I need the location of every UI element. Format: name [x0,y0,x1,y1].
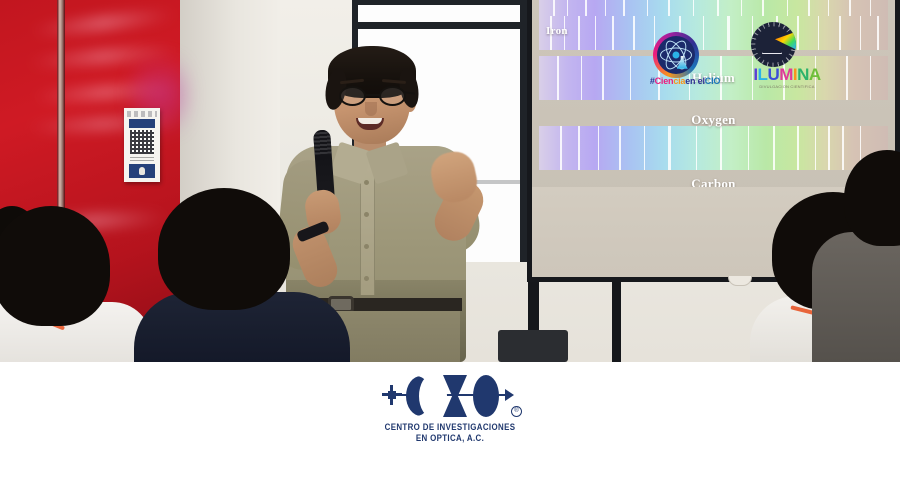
atom-icon [653,32,699,78]
ilumina-subtitle: DIVULGACION CIENTIFICA [735,84,839,89]
window-frame [352,22,527,29]
speaker-nose [365,102,377,116]
audience-member [836,150,900,362]
cio-logo-mark: ® [383,372,517,420]
poster-header-text [127,111,157,117]
event-photograph: Iron Helium [0,0,900,362]
cio-logo: ® [0,372,900,425]
page-root: Iron Helium [0,0,900,500]
poster-body-text [130,156,154,161]
audience-member [0,206,136,362]
cio-logo-line1: CENTRO DE INVESTIGACIONES [54,422,846,433]
ilumina-letter: M [779,65,793,84]
microphone-grille [313,130,332,155]
eyeglass-bridge [366,94,380,96]
screen-support-post [612,282,621,362]
audience-member [140,188,330,362]
qr-code-icon [130,130,154,154]
speaker-teeth [358,118,382,124]
shirt-button [364,276,369,281]
ciencia-part1: Cien [655,76,674,86]
ciencia-en-el-cio-wordmark: #Cienciaen elCIO [625,76,745,86]
shirt-button [364,244,369,249]
atom-nucleus-icon [673,52,680,59]
window-frame [352,0,527,5]
registered-trademark-icon: ® [511,406,522,417]
atom-icon-inner [657,36,695,74]
arrow-icon [505,389,514,401]
shirt-button [364,180,369,185]
audience-jacket [812,232,900,362]
footer: ® CENTRO DE INVESTIGACIONES EN OPTICA, A… [0,362,900,500]
ilumina-letter: A [809,65,821,84]
ciencia-connector: en el [685,76,705,86]
ciencia-part2: cia [673,76,685,86]
ciencia-cio: CIO [705,76,720,86]
door-reflection [28,9,178,37]
window-frame [520,0,527,262]
lens-o-icon [473,375,499,417]
shirt-button [364,212,369,217]
qr-code-poster [124,108,160,182]
ilumina-letter: L [758,65,768,84]
ilumina-letter: N [797,65,809,84]
audience-hair [158,188,290,310]
audience-hair [844,150,900,246]
poster-band [129,119,155,128]
cio-logo-line2: EN OPTICA, A.C. [54,433,846,444]
cio-logo-text: CENTRO DE INVESTIGACIONES EN OPTICA, A.C… [54,422,846,444]
ilumina-wordmark: ILUMINA [735,66,839,83]
lens-c-cutout [419,374,447,418]
audience-hair [0,206,110,326]
prism-icon [751,22,796,67]
ilumina-letter: U [767,65,779,84]
poster-footer [129,164,155,178]
eyeglass-lens [379,86,406,106]
eyeglass-lens [339,86,366,106]
